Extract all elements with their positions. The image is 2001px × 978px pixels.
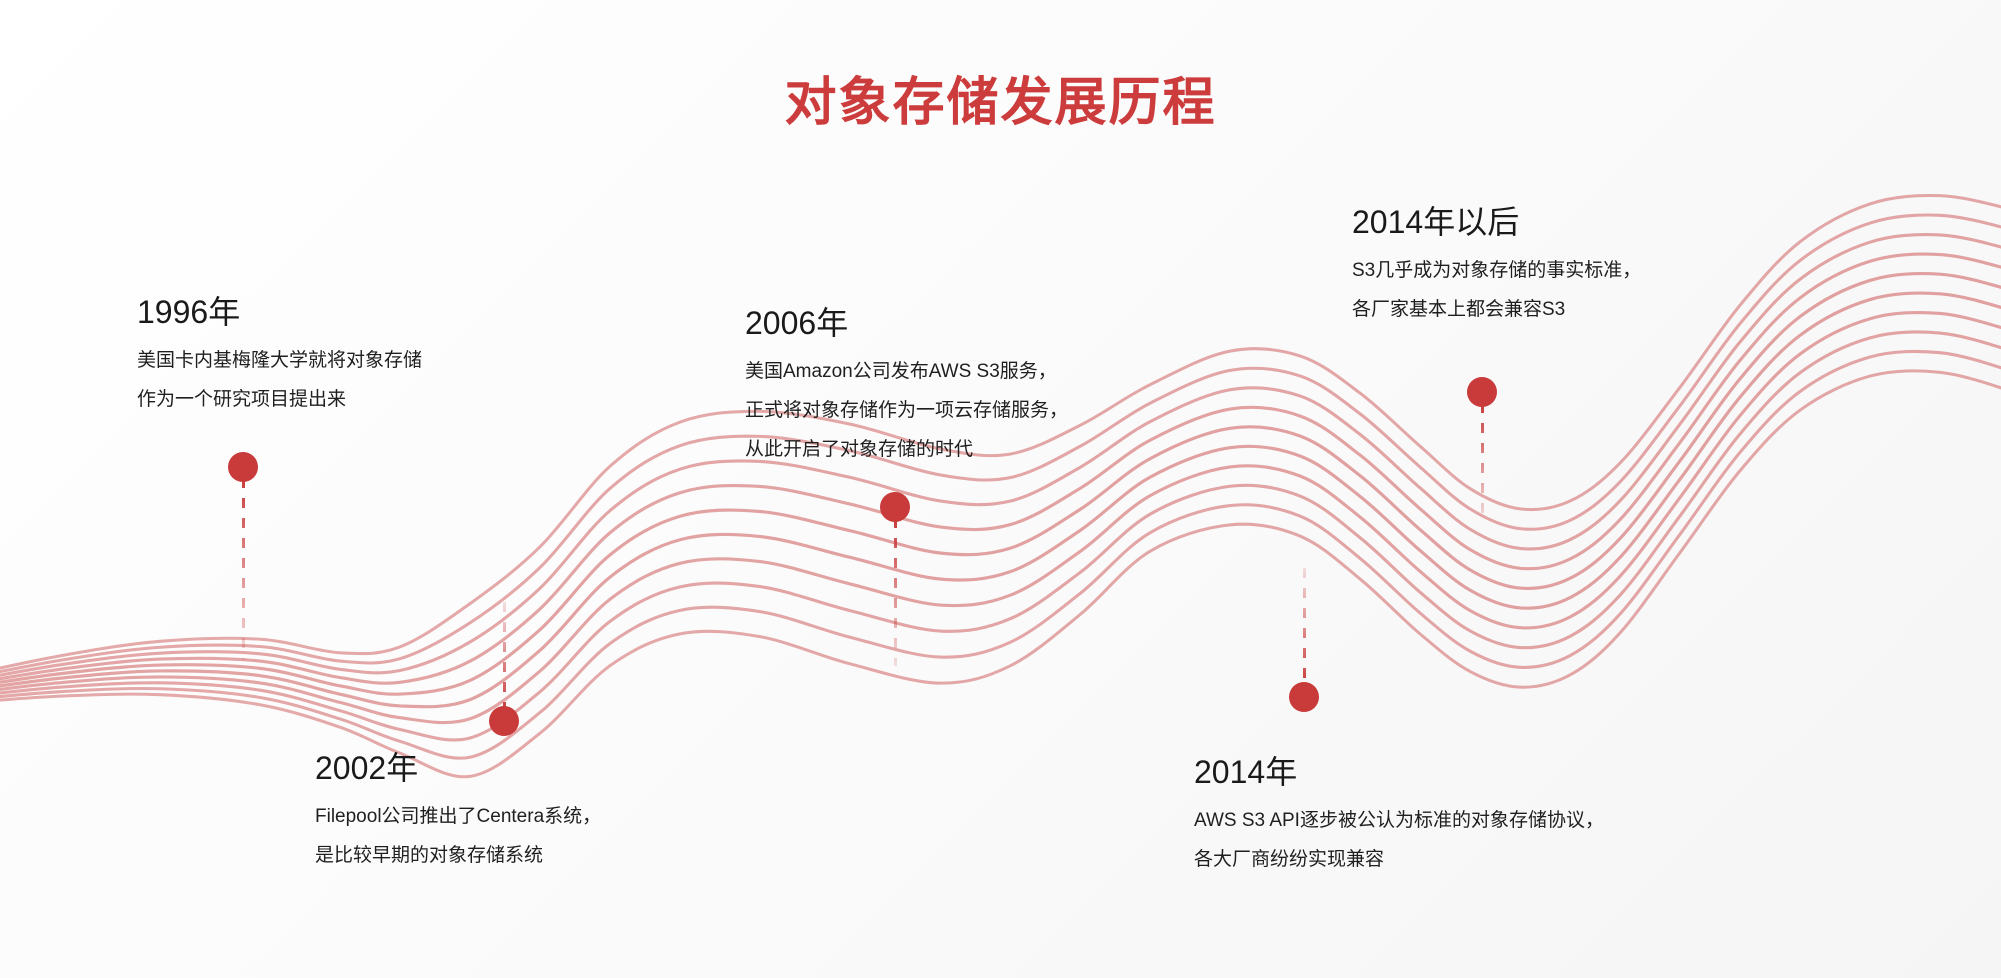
event-line: 从此开启了对象存储的时代 <box>745 431 1068 470</box>
event-line: Filepool公司推出了Centera系统， <box>315 798 601 837</box>
wave-lines <box>0 195 2001 776</box>
timeline-infographic: 对象存储发展历程 1996年 美国卡内基梅隆大学就将对象存储 作为一个研究项目提… <box>0 0 2001 978</box>
event-year-1996: 1996年 <box>137 292 422 332</box>
timeline-stem-1996 <box>242 478 245 660</box>
event-year-2006: 2006年 <box>745 303 1068 343</box>
timeline-stem-2014-after <box>1481 403 1484 521</box>
event-year-2014-after: 2014年以后 <box>1352 202 1641 242</box>
event-line: 是比较早期的对象存储系统 <box>315 837 601 876</box>
event-line: 正式将对象存储作为一项云存储服务， <box>745 392 1068 431</box>
event-2014[interactable]: 2014年 AWS S3 API逐步被公认为标准的对象存储协议， 各大厂商纷纷实… <box>1194 752 1604 880</box>
event-line: 美国Amazon公司发布AWS S3服务， <box>745 353 1068 392</box>
event-body-2014-after: S3几乎成为对象存储的事实标准， 各厂家基本上都会兼容S3 <box>1352 252 1641 330</box>
event-body-2006: 美国Amazon公司发布AWS S3服务， 正式将对象存储作为一项云存储服务， … <box>745 353 1068 470</box>
event-line: S3几乎成为对象存储的事实标准， <box>1352 252 1641 291</box>
timeline-dot-2014[interactable] <box>1289 682 1319 712</box>
event-1996[interactable]: 1996年 美国卡内基梅隆大学就将对象存储 作为一个研究项目提出来 <box>137 292 422 420</box>
event-2002[interactable]: 2002年 Filepool公司推出了Centera系统， 是比较早期的对象存储… <box>315 748 601 876</box>
background-gradient <box>0 0 2001 978</box>
page-title: 对象存储发展历程 <box>0 60 2001 135</box>
event-2006[interactable]: 2006年 美国Amazon公司发布AWS S3服务， 正式将对象存储作为一项云… <box>745 303 1068 470</box>
event-body-2014: AWS S3 API逐步被公认为标准的对象存储协议， 各大厂商纷纷实现兼容 <box>1194 802 1604 880</box>
event-line: 作为一个研究项目提出来 <box>137 381 422 420</box>
event-2014-after[interactable]: 2014年以后 S3几乎成为对象存储的事实标准， 各厂家基本上都会兼容S3 <box>1352 202 1641 330</box>
wave-decoration <box>0 0 2001 978</box>
timeline-dot-2002[interactable] <box>489 706 519 736</box>
event-year-2002: 2002年 <box>315 748 601 788</box>
event-body-1996: 美国卡内基梅隆大学就将对象存储 作为一个研究项目提出来 <box>137 342 422 420</box>
timeline-stem-2014 <box>1303 568 1306 686</box>
timeline-stem-2002 <box>503 602 506 710</box>
event-line: 各大厂商纷纷实现兼容 <box>1194 841 1604 880</box>
event-line: AWS S3 API逐步被公认为标准的对象存储协议， <box>1194 802 1604 841</box>
event-body-2002: Filepool公司推出了Centera系统， 是比较早期的对象存储系统 <box>315 798 601 876</box>
event-line: 美国卡内基梅隆大学就将对象存储 <box>137 342 422 381</box>
event-line: 各厂家基本上都会兼容S3 <box>1352 291 1641 330</box>
timeline-stem-2006 <box>894 518 897 666</box>
event-year-2014: 2014年 <box>1194 752 1604 792</box>
